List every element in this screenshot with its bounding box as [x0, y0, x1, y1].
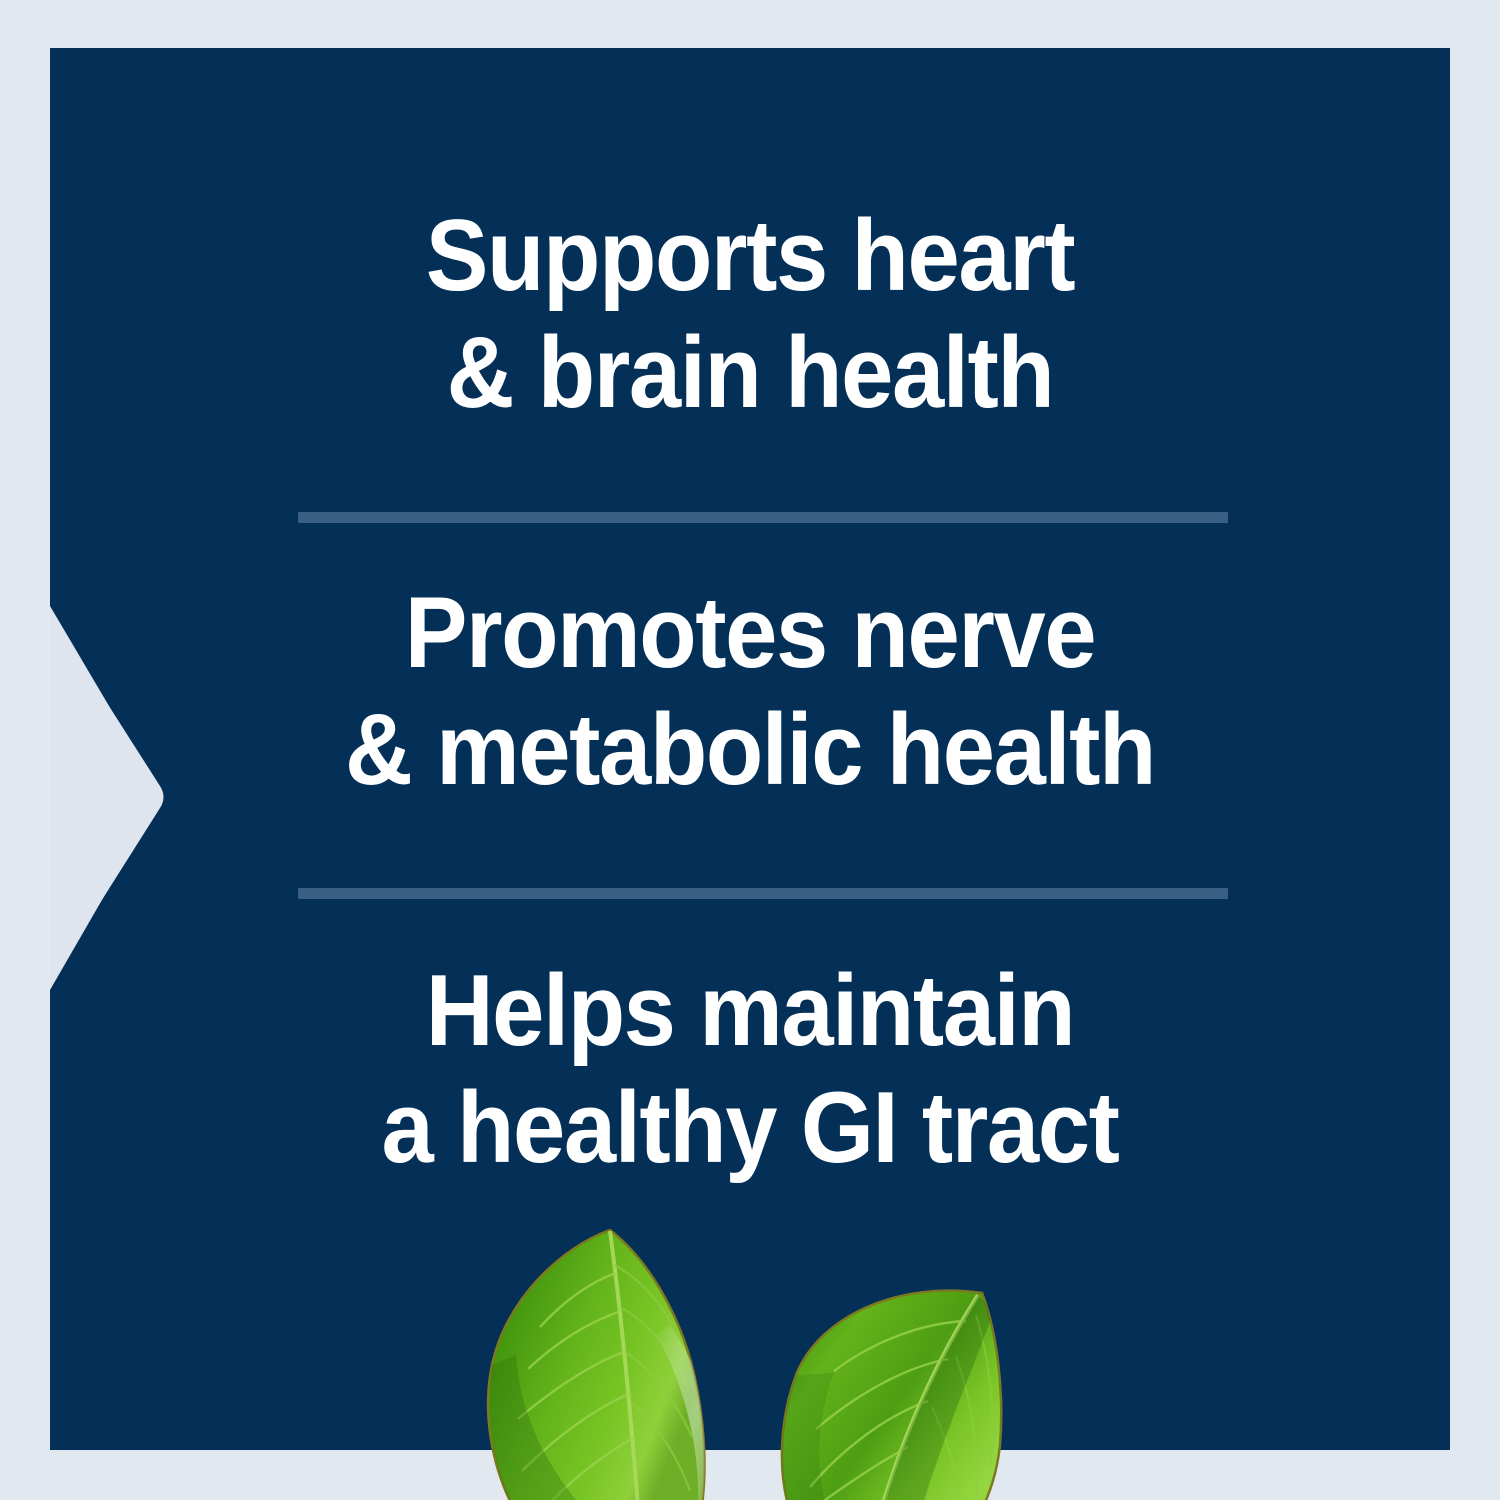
benefit-item-heart-brain: Supports heart & brain health	[99, 198, 1401, 432]
benefit-item-nerve-metabolic: Promotes nerve & metabolic health	[99, 575, 1401, 809]
benefits-panel: Supports heart & brain health Promotes n…	[50, 48, 1450, 1450]
benefit-item-gi-tract: Helps maintain a healthy GI tract	[99, 953, 1401, 1187]
benefit-divider-1	[298, 512, 1228, 523]
promo-graphic: Supports heart & brain health Promotes n…	[0, 0, 1500, 1500]
benefit-divider-2	[298, 888, 1228, 899]
